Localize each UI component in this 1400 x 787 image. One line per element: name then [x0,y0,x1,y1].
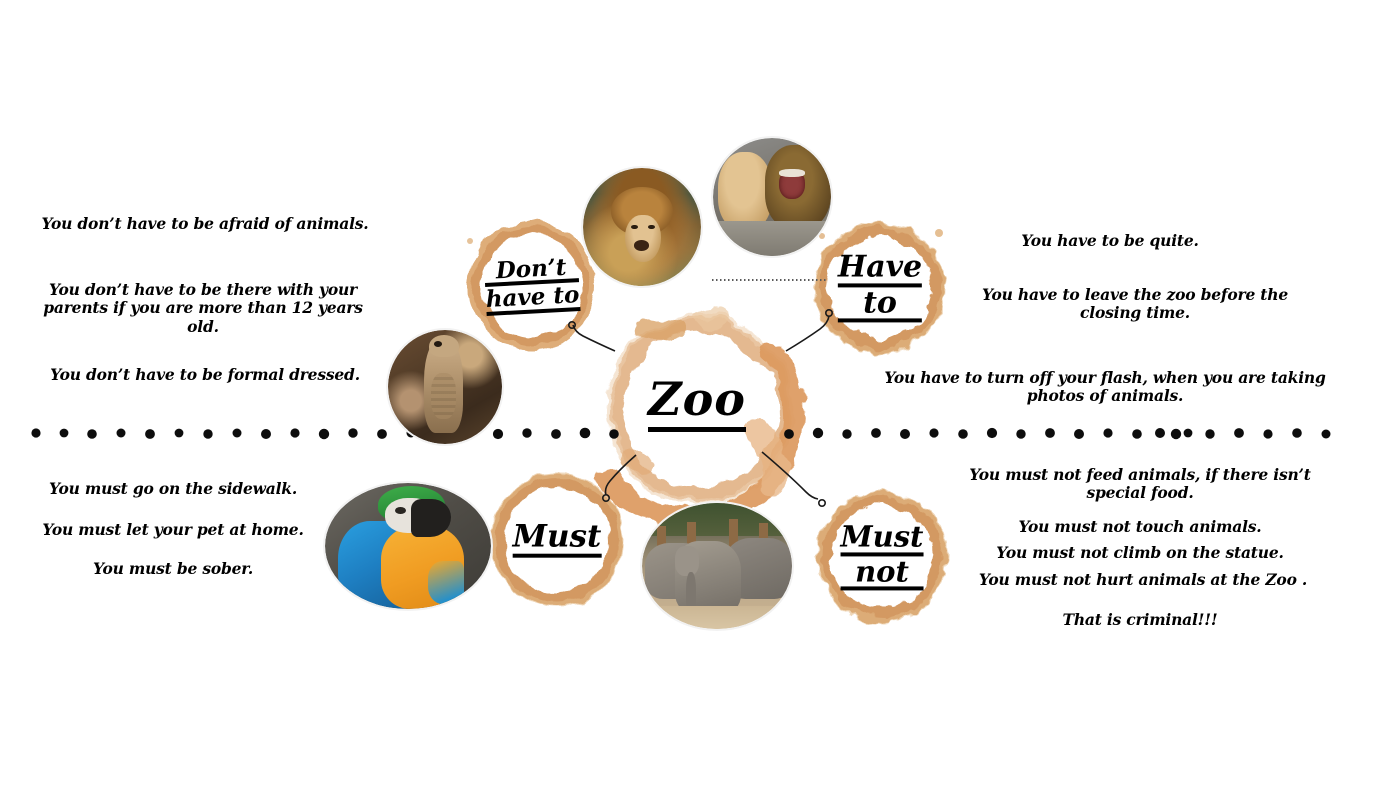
node-must-not-line2: not [841,557,924,591]
have-to-item-2: You have to leave the zoo before the clo… [975,286,1295,323]
node-must-label: Must [513,522,602,558]
must-item-3: You must be sober. [18,560,328,578]
connector-have-to [786,316,829,351]
dont-have-to-item-1: You don’t have to be afraid of animals. [40,215,370,233]
node-must-not[interactable]: Must not [820,495,944,619]
photo-lions-roaring [713,138,831,256]
mindmap-canvas: Zoo Don’t have to Have to Must Must not … [0,0,1400,787]
connector-dont-have-to [573,325,615,351]
must-not-item-1: You must not feed animals, if there isn’… [950,466,1330,503]
node-dont-have-to-line2: have to [485,284,580,316]
photo-lion-portrait [583,168,701,286]
must-item-2: You must let your pet at home. [18,521,328,539]
dont-have-to-item-2: You don’t have to be there with your par… [28,281,378,336]
node-dont-have-to[interactable]: Don’t have to [470,224,594,348]
node-must[interactable]: Must [493,476,621,604]
node-have-to-line1: Have [838,252,922,287]
node-must-not-line1: Must [841,522,924,556]
photo-elephants [642,503,792,629]
photo-macaw [325,483,491,609]
must-item-1: You must go on the sidewalk. [18,480,328,498]
center-node-zoo[interactable]: Zoo [648,372,746,432]
must-not-item-2: You must not touch animals. [950,518,1330,536]
have-to-item-1: You have to be quite. [960,232,1260,250]
must-not-item-5: That is criminal!!! [970,611,1310,629]
connector-must-not [762,452,818,499]
have-to-item-3: You have to turn off your flash, when yo… [870,369,1340,406]
dont-have-to-item-3: You don’t have to be formal dressed. [15,366,395,384]
connector-must [606,455,637,495]
node-have-to-line2: to [838,288,922,323]
center-node-label: Zoo [648,372,746,432]
node-have-to[interactable]: Have to [818,226,942,350]
must-not-item-4: You must not hurt animals at the Zoo . [938,571,1348,589]
photo-meerkat [388,330,502,444]
must-not-item-3: You must not climb on the statue. [945,544,1335,562]
